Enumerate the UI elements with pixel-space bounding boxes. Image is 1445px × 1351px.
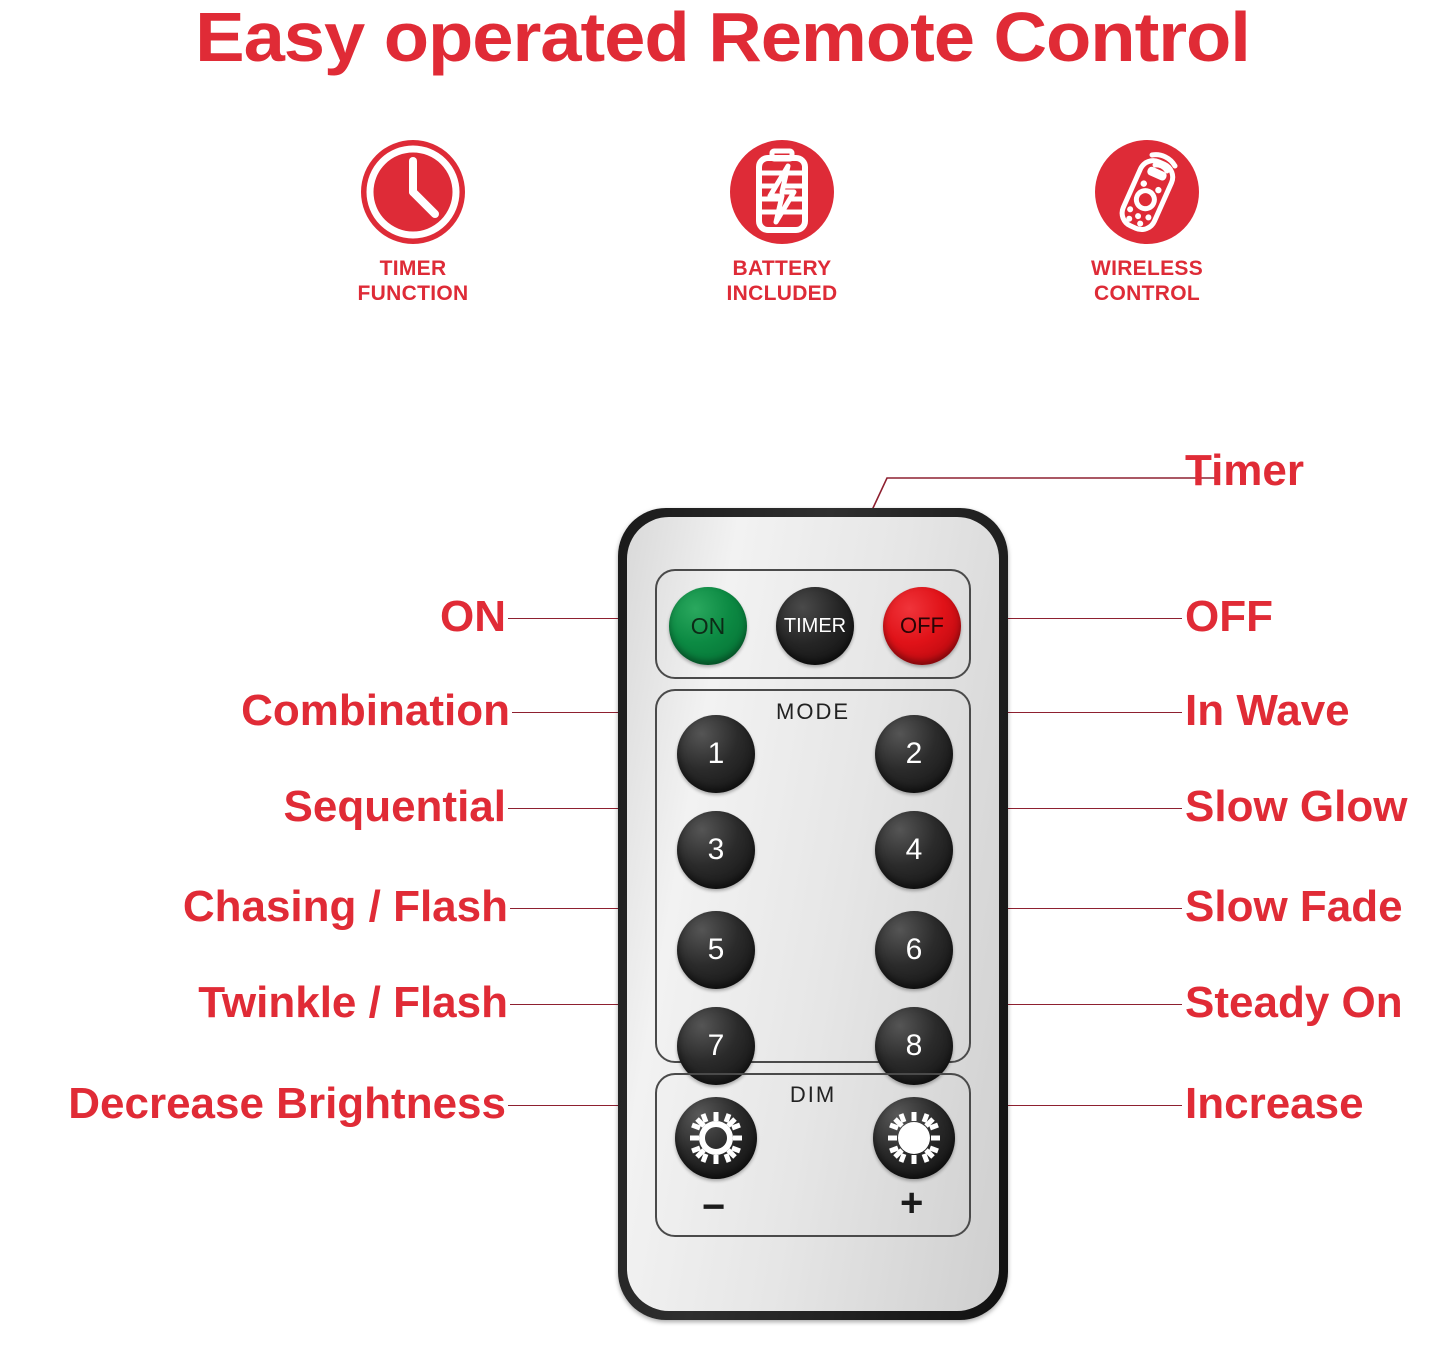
- mode-button-5[interactable]: 5: [677, 911, 755, 989]
- dim-minus-symbol: −: [702, 1187, 725, 1227]
- mode-button-label: 4: [906, 833, 923, 867]
- on-button-label: ON: [691, 613, 726, 640]
- mode-button-2[interactable]: 2: [875, 715, 953, 793]
- off-button-label: OFF: [900, 613, 944, 639]
- feature-label: BATTERY INCLUDED: [662, 256, 902, 306]
- callout-off: OFF: [1185, 592, 1273, 642]
- on-button[interactable]: ON: [669, 587, 747, 665]
- mode-panel: MODE 1 2 3 4 5 6 7 8: [655, 689, 971, 1063]
- feature-wireless-control: WIRELESS CONTROL: [1027, 138, 1267, 306]
- mode-button-label: 1: [708, 737, 725, 771]
- callout-timer: Timer: [1185, 446, 1304, 496]
- power-panel: ON TIMER OFF: [655, 569, 971, 679]
- feature-label: WIRELESS CONTROL: [1027, 256, 1267, 306]
- mode-button-label: 6: [906, 933, 923, 967]
- feature-timer-function: TIMER FUNCTION: [293, 138, 533, 306]
- mode-button-3[interactable]: 3: [677, 811, 755, 889]
- feature-label: TIMER FUNCTION: [293, 256, 533, 306]
- mode-button-label: 2: [906, 737, 923, 771]
- page-title: Easy operated Remote Control: [0, 0, 1445, 76]
- callout-decrease-brightness: Decrease Brightness: [2, 1079, 506, 1129]
- remote-control-device: ON TIMER OFF MODE 1 2 3 4: [618, 508, 1008, 1320]
- clock-icon: [359, 138, 467, 246]
- remote-faceplate: ON TIMER OFF MODE 1 2 3 4: [627, 517, 999, 1311]
- callout-twinkle-flash: Twinkle / Flash: [60, 978, 508, 1028]
- feature-label-line1: WIRELESS: [1027, 256, 1267, 281]
- timer-button-label: TIMER: [784, 615, 846, 638]
- increase-brightness-button[interactable]: [873, 1097, 955, 1179]
- decrease-brightness-button[interactable]: [675, 1097, 757, 1179]
- mode-button-label: 3: [708, 833, 725, 867]
- mode-button-label: 8: [906, 1029, 923, 1063]
- mode-button-1[interactable]: 1: [677, 715, 755, 793]
- dim-panel: DIM: [655, 1073, 971, 1237]
- battery-icon: [728, 138, 836, 246]
- callout-sequential: Sequential: [100, 782, 506, 832]
- off-button[interactable]: OFF: [883, 587, 961, 665]
- callout-in-wave: In Wave: [1185, 686, 1350, 736]
- mode-button-label: 7: [708, 1029, 725, 1063]
- callout-combination: Combination: [100, 686, 510, 736]
- mode-button-6[interactable]: 6: [875, 911, 953, 989]
- callout-increase: Increase: [1185, 1079, 1364, 1129]
- callout-on: ON: [188, 592, 506, 642]
- sun-bright-icon: [884, 1108, 944, 1168]
- callout-slow-fade: Slow Fade: [1185, 882, 1403, 932]
- sun-dim-icon: [686, 1108, 746, 1168]
- callout-steady-on: Steady On: [1185, 978, 1403, 1028]
- feature-label-line2: CONTROL: [1027, 281, 1267, 306]
- callout-slow-glow: Slow Glow: [1185, 782, 1407, 832]
- timer-button[interactable]: TIMER: [776, 587, 854, 665]
- mode-button-4[interactable]: 4: [875, 811, 953, 889]
- callout-chasing-flash: Chasing / Flash: [60, 882, 508, 932]
- dim-plus-symbol: +: [900, 1183, 923, 1223]
- feature-label-line1: BATTERY: [662, 256, 902, 281]
- remote-signal-icon: [1093, 138, 1201, 246]
- feature-battery-included: BATTERY INCLUDED: [662, 138, 902, 306]
- feature-label-line2: INCLUDED: [662, 281, 902, 306]
- mode-button-label: 5: [708, 933, 725, 967]
- feature-label-line1: TIMER: [293, 256, 533, 281]
- infographic-page: Easy operated Remote Control TIMER FUNCT…: [0, 0, 1445, 1351]
- feature-label-line2: FUNCTION: [293, 281, 533, 306]
